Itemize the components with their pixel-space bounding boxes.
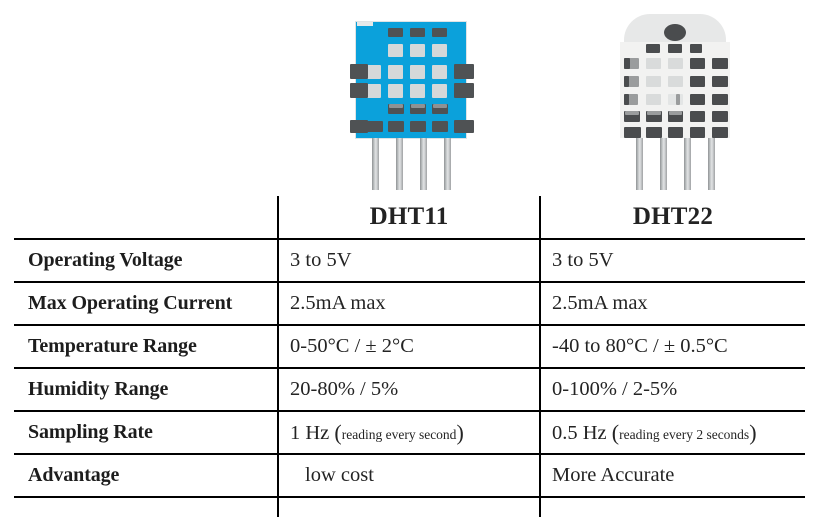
header-dht11: DHT11 xyxy=(278,196,540,239)
sampling-rate-dht22-main: 0.5 Hz xyxy=(552,422,612,444)
dht22-sensor-icon xyxy=(620,14,730,190)
dht11-sensor-icon xyxy=(356,22,466,190)
table-row: Advantage low cost More Accurate xyxy=(14,454,805,497)
cell-dht22-temperature-range: -40 to 80°C / ± 0.5°C xyxy=(540,325,805,368)
row-label-humidity-range: Humidity Range xyxy=(14,368,278,411)
row-label-sampling-rate: Sampling Rate xyxy=(14,411,278,454)
header-spacer xyxy=(14,196,278,239)
tail-label-cell xyxy=(14,497,278,517)
cell-dht11-sampling-rate: 1 Hz (reading every second) xyxy=(278,411,540,454)
paren-close: ) xyxy=(749,420,756,445)
table-row: Max Operating Current 2.5mA max 2.5mA ma… xyxy=(14,282,805,325)
cell-dht22-operating-voltage: 3 to 5V xyxy=(540,239,805,282)
sampling-rate-dht11-main: 1 Hz xyxy=(290,422,334,444)
header-dht22: DHT22 xyxy=(540,196,805,239)
row-label-operating-voltage: Operating Voltage xyxy=(14,239,278,282)
dht22-vent-hole xyxy=(664,24,686,41)
cell-dht22-max-operating-current: 2.5mA max xyxy=(540,282,805,325)
dht11-mesh-grid xyxy=(356,22,466,138)
paren-open: ( xyxy=(334,420,341,445)
cell-dht11-max-operating-current: 2.5mA max xyxy=(278,282,540,325)
row-label-advantage: Advantage xyxy=(14,454,278,497)
cell-dht11-operating-voltage: 3 to 5V xyxy=(278,239,540,282)
table-row: Operating Voltage 3 to 5V 3 to 5V xyxy=(14,239,805,282)
cell-dht22-advantage: More Accurate xyxy=(540,454,805,497)
sampling-rate-dht22-note: reading every 2 seconds xyxy=(619,427,749,442)
dht22-mesh-grid xyxy=(620,42,730,138)
row-label-max-operating-current: Max Operating Current xyxy=(14,282,278,325)
cell-dht11-advantage: low cost xyxy=(278,454,540,497)
table-row-partial xyxy=(14,497,805,517)
paren-close: ) xyxy=(456,420,463,445)
table-row: Sampling Rate 1 Hz (reading every second… xyxy=(14,411,805,454)
tail-dht22-cell xyxy=(540,497,805,517)
dht11-pins xyxy=(356,138,466,190)
paren-open: ( xyxy=(612,420,619,445)
sensor-images-strip xyxy=(0,0,816,196)
cell-dht11-humidity-range: 20-80% / 5% xyxy=(278,368,540,411)
cell-dht11-temperature-range: 0-50°C / ± 2°C xyxy=(278,325,540,368)
row-label-temperature-range: Temperature Range xyxy=(14,325,278,368)
cell-dht22-humidity-range: 0-100% / 2-5% xyxy=(540,368,805,411)
cell-dht22-sampling-rate: 0.5 Hz (reading every 2 seconds) xyxy=(540,411,805,454)
dht22-pins xyxy=(620,138,730,190)
tail-dht11-cell xyxy=(278,497,540,517)
dht-comparison-table: DHT11 DHT22 Operating Voltage 3 to 5V 3 … xyxy=(14,196,805,517)
table-row: Temperature Range 0-50°C / ± 2°C -40 to … xyxy=(14,325,805,368)
sampling-rate-dht11-note: reading every second xyxy=(342,427,457,442)
table-header-row: DHT11 DHT22 xyxy=(14,196,805,239)
table-row: Humidity Range 20-80% / 5% 0-100% / 2-5% xyxy=(14,368,805,411)
